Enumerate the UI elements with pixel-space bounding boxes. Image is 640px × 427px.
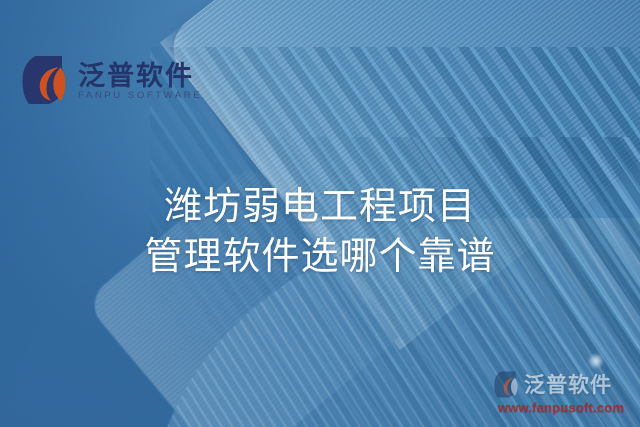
watermark-brand-row: 泛普软件 — [488, 369, 634, 399]
promo-banner: 泛普软件 FANPU SOFTWARE 潍坊弱电工程项目 管理软件选哪个靠谱 泛… — [0, 0, 640, 427]
brand-logo[interactable]: 泛普软件 FANPU SOFTWARE — [22, 55, 202, 105]
brand-name-cn: 泛普软件 — [78, 62, 202, 90]
watermark-fanpu-logo-icon — [494, 371, 520, 398]
watermark-brand-name: 泛普软件 — [524, 369, 612, 399]
fanpu-logo-icon — [22, 55, 70, 105]
brand-logo-wordmark: 泛普软件 FANPU SOFTWARE — [78, 60, 202, 101]
watermark-url: www.fanpusoft.com — [488, 400, 634, 416]
window-glint — [588, 353, 604, 369]
watermark: 泛普软件 www.fanpusoft.com — [488, 369, 634, 421]
brand-name-en: FANPU SOFTWARE — [78, 91, 202, 101]
